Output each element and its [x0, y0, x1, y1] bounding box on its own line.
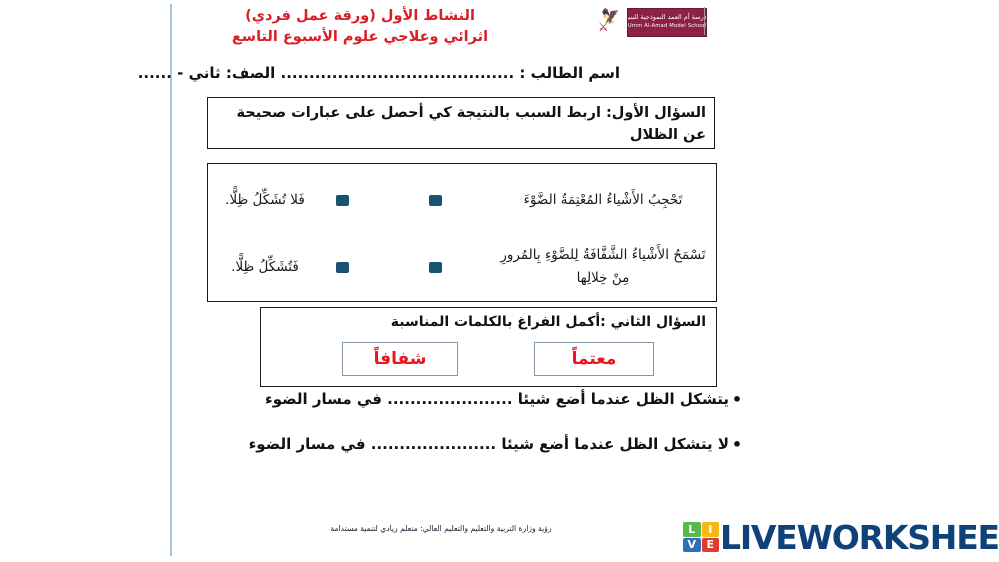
statement-1-text[interactable]: يتشكل الظل عندما أضع شيئا ..............…: [265, 390, 729, 408]
worksheet-page: النشاط الأول (ورقة عمل فردي) اثرائي وعلا…: [0, 0, 999, 562]
ministry-vision-footer: رؤية وزارة التربية والتعليم والتعليم الع…: [296, 524, 586, 533]
lw-tile-e: E: [702, 538, 720, 553]
question-1-prompt-text: السؤال الأول: اربط السبب بالنتيجة كي أحص…: [216, 102, 706, 146]
page-left-rule: [170, 4, 172, 556]
student-name-field[interactable]: اسم الطالب : ...........................…: [281, 64, 620, 82]
school-name-english: Umm Al-Amad Model School: [628, 22, 706, 31]
question-2-prompt-text: السؤال الثاني :أكمل الفراغ بالكلمات المن…: [391, 314, 706, 330]
liveworksheets-wordmark: LIVEWORKSHEETS: [720, 521, 999, 554]
bullet-icon: •: [729, 390, 745, 409]
fill-blank-statement-1: •يتشكل الظل عندما أضع شيئا .............…: [185, 390, 745, 409]
match-cause-text: تَحْجِبُ الأَشْياءُ المُعْتِمَةُ الضَّوْ…: [494, 189, 712, 212]
bullet-icon: •: [729, 435, 745, 454]
title-line-2: اثرائي وعلاجي علوم الأسبوع التاسع: [200, 27, 520, 48]
liveworksheets-tiles-icon: L I V E: [683, 522, 719, 552]
match-connector-left-2[interactable]: [336, 262, 349, 273]
lw-tile-v: V: [683, 538, 701, 553]
falcon-crest-icon: 🦅 ⚔: [596, 8, 624, 36]
match-effect-text: فَلا تُشَكِّلُ ظِلًّا.: [208, 189, 336, 212]
lw-tile-l: L: [683, 522, 701, 537]
title-line-1: النشاط الأول (ورقة عمل فردي): [200, 6, 520, 27]
header-divider: [704, 7, 705, 35]
crossed-swords-icon: ⚔: [598, 21, 609, 33]
matching-row: تَسْمَحُ الأَشْياءُ الشَّفَّافَةُ لِلضَّ…: [208, 236, 716, 298]
school-name-plate: مدرسة أم العمد النموذجية للبنين Umm Al-A…: [627, 8, 707, 37]
question-1-prompt-box: السؤال الأول: اربط السبب بالنتيجة كي أحص…: [207, 97, 715, 149]
school-logo: مدرسة أم العمد النموذجية للبنين Umm Al-A…: [595, 7, 707, 37]
fill-blank-statement-2: •لا يتشكل الظل عندما أضع شيئا ..........…: [185, 435, 745, 454]
match-connector-left-1[interactable]: [336, 195, 349, 206]
matching-exercise-box: تَحْجِبُ الأَشْياءُ المُعْتِمَةُ الضَّوْ…: [207, 163, 717, 302]
matching-row: تَحْجِبُ الأَشْياءُ المُعْتِمَةُ الضَّوْ…: [208, 169, 716, 231]
student-info-line: اسم الطالب : ...........................…: [195, 64, 620, 82]
question-2-box: السؤال الثاني :أكمل الفراغ بالكلمات المن…: [260, 307, 717, 387]
match-effect-text: فَتُشَكِّلُ ظِلًّا.: [208, 256, 336, 279]
worksheet-title: النشاط الأول (ورقة عمل فردي) اثرائي وعلا…: [200, 6, 520, 48]
match-cause-text: تَسْمَحُ الأَشْياءُ الشَّفَّافَةُ لِلضَّ…: [494, 244, 712, 290]
student-class-field[interactable]: الصف: ثاني - ......: [138, 64, 276, 82]
worksheet-header: النشاط الأول (ورقة عمل فردي) اثرائي وعلا…: [180, 4, 980, 52]
lw-tile-i: I: [702, 522, 720, 537]
school-name-arabic: مدرسة أم العمد النموذجية للبنين: [627, 13, 707, 22]
statement-2-text[interactable]: لا يتشكل الظل عندما أضع شيئا ...........…: [249, 435, 729, 453]
word-bank-option-motam[interactable]: معتماً: [534, 342, 654, 376]
match-connector-right-1[interactable]: [429, 195, 442, 206]
match-connector-right-2[interactable]: [429, 262, 442, 273]
liveworksheets-logo: L I V E LIVEWORKSHEETS: [683, 518, 999, 556]
word-bank-option-shafaf[interactable]: شفافاً: [342, 342, 458, 376]
